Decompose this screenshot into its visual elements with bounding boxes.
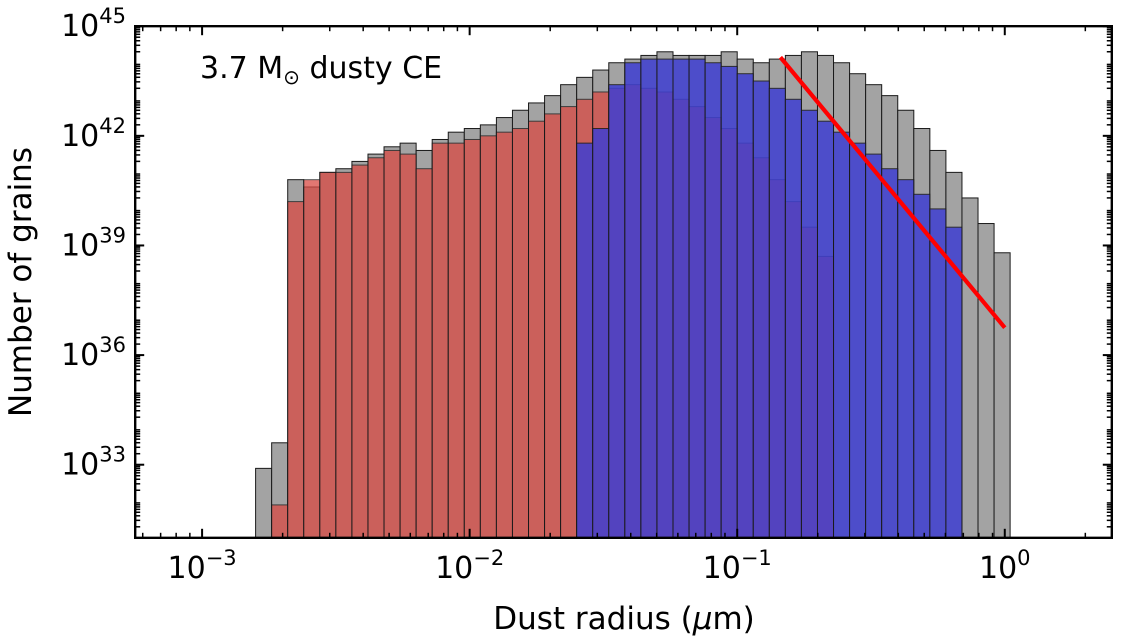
histogram-bar [657,59,673,538]
y-ticklabel: 1036 [61,333,126,373]
histogram-bar [641,59,657,538]
histogram-bar [978,224,994,538]
histogram-bar [850,143,866,538]
histogram-bar [625,63,641,538]
histogram-bar [512,129,528,538]
histogram-bar [545,114,561,538]
histogram-bar [464,139,480,537]
x-axis-title-mu: μ [692,601,713,637]
x-ticklabel: 10−1 [703,546,772,586]
histogram-bar [384,150,400,537]
histogram-bar [785,99,801,538]
y-ticklabel: 1042 [61,114,126,154]
histogram-bar [368,158,384,538]
histogram-bar [352,165,368,538]
annotation-sun-symbol: ⊙ [283,65,300,89]
histogram-bar [400,154,416,538]
histogram-bar [673,59,689,538]
y-ticklabel: 1045 [61,4,126,44]
y-ticklabel: 1033 [61,443,126,483]
histogram-bar [721,66,737,537]
histogram-bar [689,59,705,538]
histogram-bar [769,88,785,537]
y-axis-title: Number of grains [3,147,39,417]
histogram-bar [817,121,833,538]
histogram-bar [914,194,930,538]
histogram-bar [561,107,577,538]
plot-svg: 10−310−210−1100 10331036103910421045 Dus… [0,0,1128,641]
histogram-bar [529,121,545,538]
histogram-bar [898,180,914,538]
y-ticklabel: 1039 [61,223,126,263]
histogram-bar [336,172,352,537]
x-axis-title-main: Dust radius ( [493,601,692,637]
histogram-bar [866,154,882,538]
x-axis-title: Dust radius (μm) [493,601,755,637]
figure-container: 10−310−210−1100 10331036103910421045 Dus… [0,0,1128,641]
histogram-bar [609,85,625,538]
histogram-bar [930,209,946,538]
histogram-bar [448,143,464,538]
plot-annotation: 3.7 M⊙ dusty CE [200,51,442,89]
histogram-bar [320,172,336,537]
histogram-bar [256,468,272,537]
histogram-bar [801,110,817,538]
x-ticklabel-group: 10−310−210−1100 [168,546,1031,586]
histogram-bar [288,202,304,538]
histogram-bar [480,136,496,538]
histogram-bar [416,169,432,538]
histogram-bar [304,180,320,538]
x-axis-title-tail: m) [712,601,754,637]
histogram-bar [753,81,769,538]
histogram-bar [705,63,721,538]
x-ticklabel: 10−2 [435,546,504,586]
histogram-bar [737,74,753,538]
histogram-bar [834,132,850,538]
annotation-space1 [248,51,258,86]
x-ticklabel: 100 [979,546,1031,586]
annotation-mass: 3.7 [200,51,248,86]
histogram-bar [577,143,593,538]
histogram-bar [272,505,288,538]
histogram-bar [882,169,898,538]
annotation-descriptor: dusty CE [300,51,442,86]
x-ticklabel: 10−3 [168,546,237,586]
histogram-bar [994,253,1010,538]
histogram-bar [496,132,512,538]
histogram-bar [962,198,978,538]
histogram-bar [593,129,609,538]
annotation-msymbol: M [257,51,283,86]
y-ticklabel-group: 10331036103910421045 [61,4,126,483]
histogram-bar [432,143,448,538]
